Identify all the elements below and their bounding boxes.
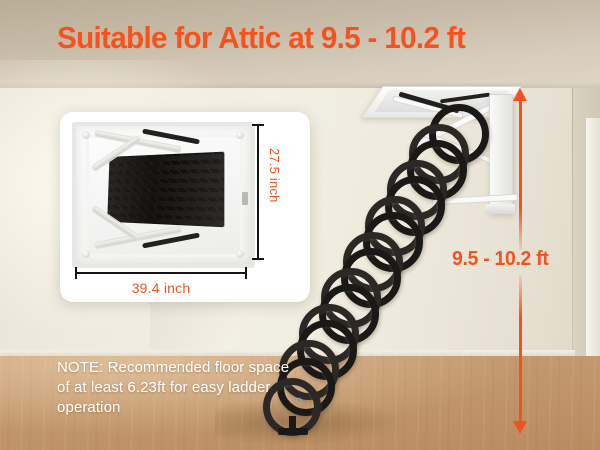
frame-screw-tl (82, 131, 90, 139)
horizontal-dimension-line (75, 272, 247, 274)
frame-screw-br (236, 250, 244, 258)
product-scene: Suitable for Attic at 9.5 - 10.2 ft (0, 0, 600, 450)
dimensions-inset-card: 27.5 inch 39.4 inch (60, 112, 310, 302)
floor-space-note: NOTE: Recommended floor space of at leas… (57, 358, 297, 418)
height-callout-label: 9.5 - 10.2 ft (452, 248, 548, 271)
horizontal-dim-cap-left (75, 267, 77, 279)
folded-ladder-steps (107, 152, 224, 228)
horizontal-dim-cap-right (245, 267, 247, 279)
ladder-foot (278, 428, 308, 435)
horizontal-dimension-label: 39.4 inch (75, 280, 247, 296)
vertical-dimension-label: 27.5 inch (267, 148, 282, 203)
arrow-head-down-icon (513, 421, 527, 434)
vertical-dim-cap-bottom (252, 258, 264, 260)
vertical-dimension-line (257, 124, 259, 260)
folded-ladder-photo (72, 122, 247, 260)
frame-screw-tr (236, 131, 244, 139)
page-title: Suitable for Attic at 9.5 - 10.2 ft (57, 21, 465, 55)
frame-latch (242, 192, 248, 205)
vertical-dim-cap-top (252, 124, 264, 126)
arrow-line-bottom (519, 276, 522, 424)
arrow-line-top (519, 98, 522, 250)
door-frame-trim (585, 118, 600, 363)
frame-screw-bl (82, 250, 90, 258)
wall-corner-edge (572, 88, 573, 360)
